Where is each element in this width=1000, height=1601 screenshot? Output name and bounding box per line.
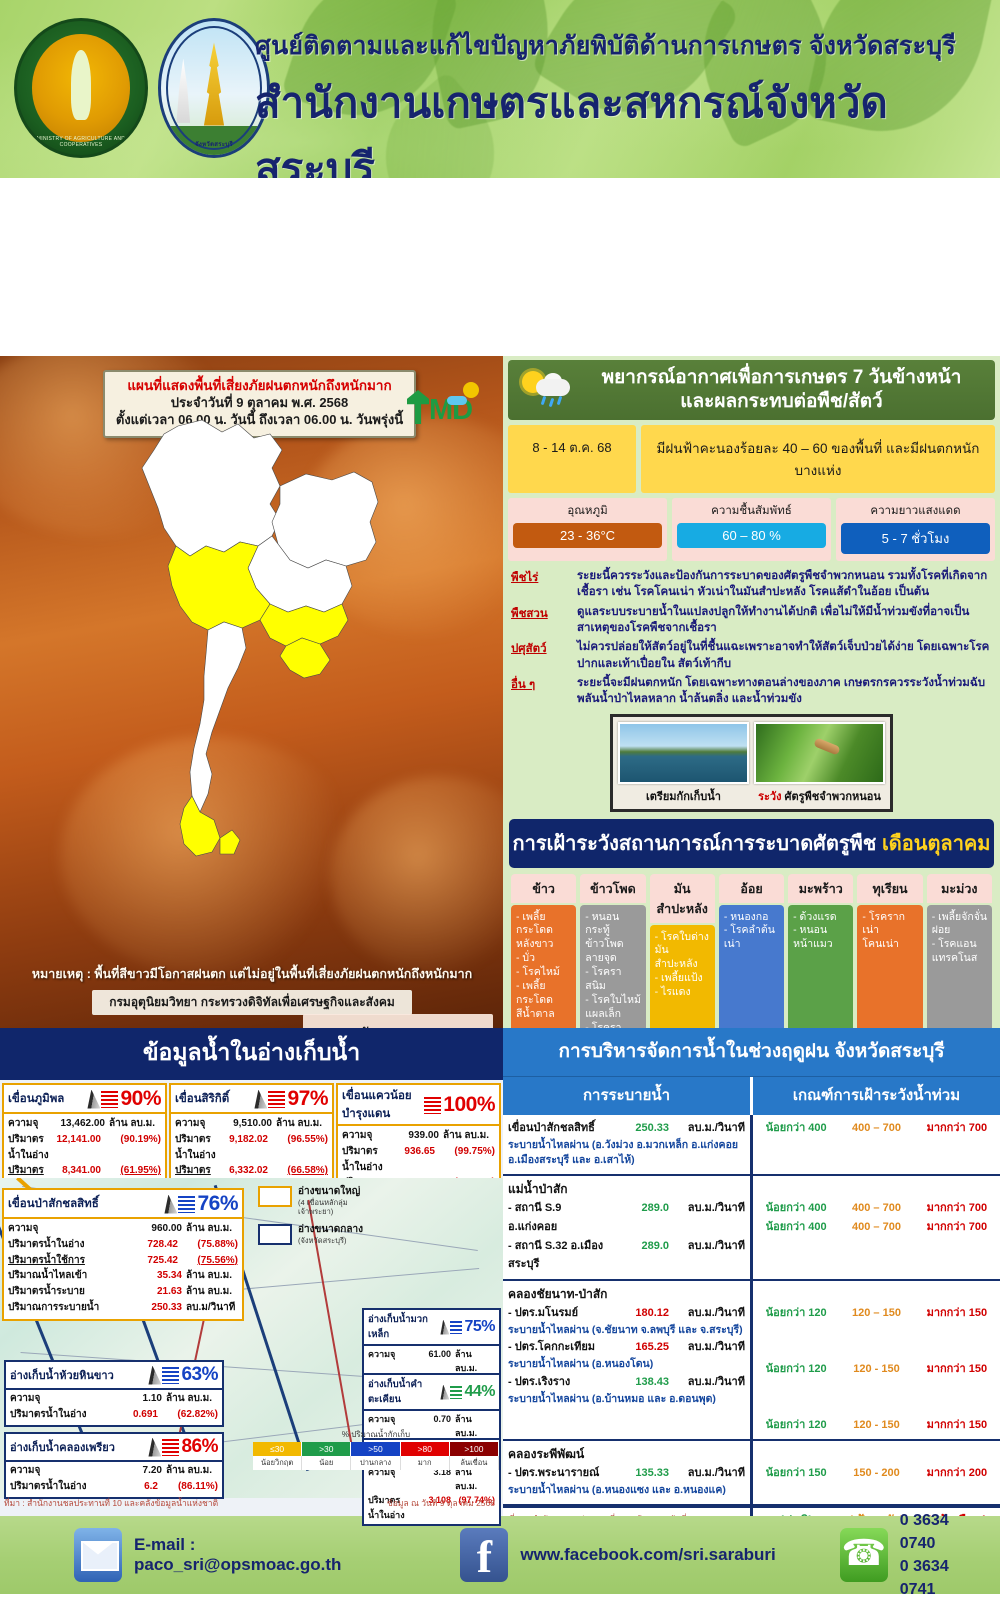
unit: ล้าน ลบ.ม. [451,1347,495,1375]
telephone-2: 0 3634 0741 [900,1555,982,1601]
reservoir-percent: 63% [181,1364,218,1386]
dam-name: เขื่อนป่าสักชลสิทธิ์ [8,1195,99,1213]
map-caption-line2: ประจำวันที่ 9 ตุลาคม พ.ศ. 2568 [113,395,406,412]
flow-through-note: ระบายน้ำไหลผ่าน (จ.ชัยนาท จ.ลพบุรี และ จ… [508,1323,745,1339]
criteria-alert: มากกว่า 700 [917,1199,997,1218]
row-label: ปริมาณน้ำไหลเข้า [8,1268,130,1284]
pest-surveillance-header: การเฝ้าระวังสถานการณ์การระบาดศัตรูพืช เด… [509,819,994,868]
unit: ล้าน ลบ.ม. [439,1128,495,1144]
legend-title: อ่างขนาดใหญ่ [298,1186,382,1198]
caption-rest: ศัตรูพืชจำพวกหนอน [781,791,880,803]
legend-title: อ่างขนาดกลาง [298,1224,363,1236]
dam-percent: 97% [287,1087,328,1111]
legend-subtitle: (จังหวัดสระบุรี) [298,1236,363,1245]
discharge-value: 289.0 [613,1237,669,1256]
crop-name: มะพร้าว [788,874,853,903]
volume-value: 12,141.00 [49,1132,101,1164]
row-label: ปริมาตรน้ำในอ่าง [175,1132,216,1164]
gauge-icon [148,1438,161,1457]
criteria-normal: น้อยกว่า 400 [756,1199,836,1218]
severity-legend: ระดับความรุนแรง ฝนตกหนักมาก (ปริมาณฝนฝน … [303,1014,493,1028]
volume-value: 936.65 [383,1144,435,1176]
capacity-value: 1.10 [110,1391,162,1407]
photo-caption-pest: ระวัง ศัตรูพืชจำพวกหนอน [754,787,885,805]
advice-row-field-crops: พืชไร่ ระยะนี้ควรระวังและป้องกันการระบาด… [511,568,992,601]
weather-summary-row: 8 - 14 ต.ค. 68 มีฝนฟ้าคะนองร้อยละ 40 – 6… [508,425,995,493]
row-label: ปริมาตรน้ำใช้การ [8,1253,126,1269]
discharge-value: 138.43 [613,1373,669,1392]
criteria-normal: น้อยกว่า 120 [756,1304,836,1323]
legend-band: >30 [302,1442,351,1456]
thailand-map [120,416,388,876]
warn-word: ระวัง [758,791,781,803]
unit: ล้าน ลบ.ม. [105,1116,161,1132]
legend-band-label: มาก [401,1456,450,1470]
volume-pct: (96.55%) [268,1132,328,1164]
legend-band: >80 [401,1442,450,1456]
map-source: กรมอุตุนิยมวิทยา กระทรวงดิจิทัลเพื่อเศรษ… [92,990,412,1015]
metric-value: 23 - 36°C [513,523,662,548]
reservoir-name: อ่างเก็บน้ำคำตะเคียน [368,1377,440,1407]
tmd-logo: MD [403,376,481,428]
usable-pct: (75.56%) [178,1253,238,1269]
row-label: ปริมาตรน้ำระบาย [8,1284,130,1300]
capacity-value: 61.00 [411,1347,451,1375]
email-text[interactable]: E-mail : paco_sri@opsmoac.go.th [134,1535,392,1575]
volume-pct: (90.19%) [101,1132,161,1164]
advice-row-livestock: ปศุสัตว์ ไม่ควรปล่อยให้สัตว์อยู่ในที่ชื้… [511,639,992,672]
column-header-discharge: การระบายน้ำ [503,1077,753,1115]
criteria-row: น้อยกว่า 150 150 - 200 มากกว่า 200 [756,1464,997,1483]
criteria-alert: มากกว่า 150 [917,1304,997,1323]
map-caption-line1: แผนที่แสดงพื้นที่เสี่ยงภัยฝนตกหนักถึงหนั… [113,378,406,395]
criteria-alert: มากกว่า 150 [917,1360,997,1379]
volume-value: 6.2 [106,1479,158,1495]
discharge-value: 135.33 [613,1464,669,1483]
reservoir-percent: 86% [181,1436,218,1458]
row-label: ความจุ [8,1116,53,1132]
criteria-watch: 400 – 700 [836,1199,916,1218]
forecast-summary: มีฝนฟ้าคะนองร้อยละ 40 – 60 ของพื้นที่ แล… [641,425,995,493]
legend-band: >50 [351,1442,400,1456]
row-label: ปริมาตรน้ำในอ่าง [10,1407,106,1423]
unit: ลบ.ม./วินาที [669,1119,745,1138]
unit: ลบ.ม./วินาที [669,1373,745,1392]
pest-list: - ด้วงแรด - หนอน หน้าแมว [788,905,853,1033]
center-name: ศูนย์ติดตามและแก้ไขปัญหาภัยพิบัติด้านการ… [255,26,984,66]
crop-name: ข้าวโพด [580,874,645,903]
criteria-row: น้อยกว่า 400 400 – 700 มากกว่า 700 [756,1218,997,1237]
row-label: ปริมาตรน้ำในอ่าง [342,1144,383,1176]
unit: ล้าน ลบ.ม. [182,1221,238,1237]
legend-band: >100 [450,1442,499,1456]
volume-value: 9,182.02 [216,1132,268,1164]
station-name: - สถานี S.32 อ.เมืองสระบุรี [508,1237,613,1274]
unit: ล้าน ลบ.ม. [182,1268,238,1284]
dam-name: เขื่อนแควน้อยบำรุงแดน [342,1087,424,1123]
unit: ลบ.ม./วินาที [669,1464,745,1483]
sun-cloud-rain-icon [520,367,576,413]
office-name: สำนักงานเกษตรและสหกรณ์จังหวัดสระบุรี [255,70,984,178]
rainfall-risk-map-panel: แผนที่แสดงพื้นที่เสี่ยงภัยฝนตกหนักถึงหนั… [0,356,503,1028]
advice-row-other: อื่น ๆ ระยะนี้จะมีฝนตกหนัก โดยเฉพาะทางตอ… [511,675,992,708]
row-label: ความจุ [10,1391,110,1407]
reservoir-name: อ่างเก็บน้ำมวกเหล็ก [368,1312,440,1342]
reservoir-photo [618,722,749,784]
unit: ล้าน ลบ.ม. [162,1391,218,1407]
volume-pct: (75.88%) [178,1237,238,1253]
river-group-title: แม่น้ำป่าสัก [508,1180,745,1199]
water-waves-icon [450,1321,462,1334]
water-waves-icon [450,1386,462,1399]
flow-through-note: ระบายน้ำไหลผ่าน (อ.หนองโดน) [508,1357,745,1373]
discharge-value: 180.12 [613,1304,669,1323]
unit: ล้าน ลบ.ม. [162,1463,218,1479]
station-name: - ปตร.โคกกะเทียม [508,1338,613,1357]
column-header-criteria: เกณฑ์การเฝ้าระวังน้ำท่วม [753,1077,1000,1115]
pest-header-month: เดือนตุลาคม [882,833,991,855]
criteria-alert: มากกว่า 150 [917,1416,997,1435]
criteria-row: น้อยกว่า 400 400 – 700 มากกว่า 700 [756,1199,997,1218]
weather-and-pest-panel: พยากรณ์อากาศเพื่อการเกษตร 7 วันข้างหน้า … [503,356,1000,1028]
station-name: - ปตร.มโนรมย์ [508,1304,613,1323]
contact-footer: E-mail : paco_sri@opsmoac.go.th www.face… [0,1516,1000,1594]
table-row: - สถานี S.9 อ.แก่งคอย 289.0 ลบ.ม./วินาที [508,1199,745,1236]
reservoir-name: อ่างเก็บน้ำห้วยหินขาว [10,1366,114,1384]
row-label: ความจุ [10,1463,110,1479]
water-waves-icon [101,1091,118,1108]
advice-key: อื่น ๆ [511,675,577,708]
metric-value: 5 - 7 ชั่วโมง [841,523,990,554]
inflow-value: 35.34 [130,1268,182,1284]
reservoir-source: ที่มา : สำนักงานชลประทานที่ 10 และคลังข้… [4,1496,218,1510]
legend-large-reservoir: อ่างขนาดใหญ่ (4 เขื่อนหลักลุ่มเจ้าพระยา) [258,1186,382,1216]
gauge-icon [440,1385,449,1400]
row-label: ความจุ [175,1116,220,1132]
capacity-value: 9,510.00 [220,1116,272,1132]
reservoir-data-panel: ข้อมูลน้ำในอ่างเก็บน้ำ เขื่อนภูมิพล 90% … [0,1028,503,1516]
legend-band: ≤30 [253,1442,302,1456]
discharge-value: 250.33 [613,1119,669,1138]
pest-list: - หนองกอ - โรคลำต้นเน่า [719,905,784,1033]
criteria-normal: น้อยกว่า 120 [756,1416,836,1435]
criteria-row: น้อยกว่า 120 120 – 150 มากกว่า 150 [756,1304,997,1323]
discharge-value: 289.0 [613,1199,669,1218]
pest-header-text: การเฝ้าระวังสถานการณ์การระบาดศัตรูพืช [513,833,882,855]
table-row: - สถานี S.32 อ.เมืองสระบุรี 289.0 ลบ.ม./… [508,1237,745,1274]
criteria-watch: 400 – 700 [836,1119,916,1138]
dam-percent: 76% [197,1192,238,1216]
reservoir-card-khlong-phriao: อ่างเก็บน้ำคลองเพรียว 86% ความจุ7.20ล้าน… [4,1432,224,1499]
criteria-watch: 120 - 150 [836,1416,916,1435]
dam-name: เขื่อนสิริกิติ์ [175,1090,229,1108]
criteria-watch: 400 – 700 [836,1218,916,1237]
unit: ลบ.ม./วินาที [669,1199,745,1218]
criteria-row: น้อยกว่า 120 120 - 150 มากกว่า 150 [756,1360,997,1379]
capacity-value: 13,462.00 [53,1116,105,1132]
pest-list: - โรครากเน่า โคนเน่า [857,905,922,1033]
volume-pct: (62.82%) [158,1407,218,1423]
unit: ลบ.ม./วินาที [669,1304,745,1323]
advice-text: ระยะนี้ควรระวังและป้องกันการระบาดของศัตร… [577,568,992,601]
reservoir-size-legend: อ่างขนาดใหญ่ (4 เขื่อนหลักลุ่มเจ้าพระยา)… [258,1186,382,1253]
canal-group-title: คลองชัยนาท-ป่าสัก [508,1285,745,1304]
release-value: 250.33 [130,1300,182,1316]
unit: ล้าน ลบ.ม. [272,1116,328,1132]
dam-percent: 90% [120,1087,161,1111]
crop-name: ทุเรียน [857,874,922,903]
page-header: MINISTRY OF AGRICULTURE AND COOPERATIVES… [0,0,1000,178]
weather-photo-pair: เตรียมกักเก็บน้ำ ระวัง ศัตรูพืชจำพวกหนอน [610,714,893,812]
legend-band-label: ปานกลาง [351,1456,400,1470]
mgmt-group-pasak-dam: เขื่อนป่าสักชลสิทธิ์ 250.33 ลบ.ม./วินาที… [503,1115,1000,1176]
row-label: ปริมาตรน้ำในอ่าง [8,1132,49,1164]
unit: ล้าน ลบ.ม. [182,1284,238,1300]
mgmt-group-pasak-river: แม่น้ำป่าสัก - สถานี S.9 อ.แก่งคอย 289.0… [503,1176,1000,1281]
row-label: ปริมาตรน้ำในอ่าง [8,1237,126,1253]
discharge-value: 165.25 [613,1338,669,1357]
criteria-normal: น้อยกว่า 400 [756,1218,836,1237]
criteria-row: น้อยกว่า 120 120 - 150 มากกว่า 150 [756,1416,997,1435]
advice-key: พืชไร่ [511,568,577,601]
advice-row-orchard: พืชสวน ดูแลระบบระบายน้ำในแปลงปลูกให้ทำงา… [511,604,992,637]
pest-list: - เพลี้ยกระโดด หลังขาว - บั่ว - โรคไหม้ … [511,905,576,1033]
advice-key: ปศุสัตว์ [511,639,577,672]
phone-icon [840,1528,888,1582]
table-row: - ปตร.พระนารายณ์ 135.33 ลบ.ม./วินาที [508,1464,745,1483]
crop-name: ข้าว [511,874,576,903]
criteria-alert: มากกว่า 200 [917,1464,997,1483]
volume-value: 0.691 [106,1407,158,1423]
outflow-value: 21.63 [130,1284,182,1300]
reservoir-panel-title: ข้อมูลน้ำในอ่างเก็บน้ำ [0,1028,503,1080]
gauge-icon [440,1320,449,1335]
usable-value: 725.42 [126,1253,178,1269]
footer-phone-block: 0 3634 0740 0 3634 0741 [840,1509,982,1601]
row-label: ปริมาตรน้ำในอ่าง [10,1479,106,1495]
metric-sunlight: ความยาวแสงแดด 5 - 7 ชั่วโมง [836,498,995,561]
station-name: - ปตร.พระนารายณ์ [508,1464,613,1483]
province-seal-logo: จังหวัดสระบุรี [158,18,270,158]
weather-forecast-header: พยากรณ์อากาศเพื่อการเกษตร 7 วันข้างหน้า … [508,360,995,420]
forecast-date-range: 8 - 14 ต.ค. 68 [508,425,636,493]
gauge-icon [148,1366,161,1385]
table-row: - ปตร.มโนรมย์ 180.12 ลบ.ม./วินาที [508,1304,745,1323]
legend-band-label: น้อย [302,1456,351,1470]
weather-title-line1: พยากรณ์อากาศเพื่อการเกษตร 7 วันข้างหน้า [582,366,981,390]
facebook-url[interactable]: www.facebook.com/sri.saraburi [520,1545,775,1565]
header-title-block: ศูนย์ติดตามและแก้ไขปัญหาภัยพิบัติด้านการ… [255,26,984,178]
dam-card-pasak-chonlasit: เขื่อนป่าสักชลสิทธิ์ 76% ความจุ960.00ล้า… [2,1188,244,1321]
water-management-panel: การบริหารจัดการน้ำในช่วงฤดูฝน จังหวัดสระ… [503,1028,1000,1516]
agricultural-advice-list: พืชไร่ ระยะนี้ควรระวังและป้องกันการระบาด… [511,568,992,708]
flow-through-note: ระบายน้ำไหลผ่าน (อ.หนองแซง และ อ.หนองแค) [508,1483,745,1499]
mail-icon [74,1528,122,1582]
dam-name: เขื่อนภูมิพล [8,1090,64,1108]
pest-list: - เพลี้ยจักจั่น ฝอย - โรคแอน แทรคโนส [927,905,992,1033]
unit: ลบ.ม./วินาที [669,1338,745,1357]
volume-pct: (86.11%) [158,1479,218,1495]
mgmt-group-chainat-pasak-canal: คลองชัยนาท-ป่าสัก - ปตร.มโนรมย์ 180.12 ล… [503,1281,1000,1442]
legend-medium-reservoir: อ่างขนาดกลาง (จังหวัดสระบุรี) [258,1224,382,1245]
water-waves-icon [424,1097,441,1114]
criteria-watch: 120 – 150 [836,1304,916,1323]
criteria-normal: น้อยกว่า 400 [756,1119,836,1138]
row-label: ความจุ [342,1128,387,1144]
reservoir-percent: 75% [464,1318,495,1336]
gauge-icon [87,1090,100,1109]
caterpillar-photo [754,722,885,784]
water-management-column-headers: การระบายน้ำ เกณฑ์การเฝ้าระวังน้ำท่วม [503,1076,1000,1115]
criteria-watch: 150 - 200 [836,1464,916,1483]
criteria-alert: มากกว่า 700 [917,1218,997,1237]
dam-percent: 100% [443,1093,495,1117]
unit: ลบ.ม./วินาที [669,1237,745,1256]
legend-title: % ปริมาณน้ำกักเก็บ [253,1428,499,1441]
crop-name: มะม่วง [927,874,992,903]
metric-value: 60 – 80 % [677,523,826,548]
advice-text: ไม่ควรปล่อยให้สัตว์อยู่ในที่ชื้นแฉะเพราะ… [577,639,992,672]
storage-percent-legend: % ปริมาณน้ำกักเก็บ ≤30 >30 >50 >80 >100 … [253,1428,499,1470]
criteria-normal: น้อยกว่า 120 [756,1360,836,1379]
facebook-icon[interactable] [460,1528,508,1582]
station-name: - สถานี S.9 อ.แก่งคอย [508,1199,613,1236]
metric-temperature: อุณหภูมิ 23 - 36°C [508,498,667,561]
footer-email-block: E-mail : paco_sri@opsmoac.go.th [74,1528,392,1582]
reservoir-data-date: ข้อมูล ณ วันที่ 9 ตุลาคม 2568 [387,1496,495,1510]
water-waves-icon [178,1196,195,1213]
advice-key: พืชสวน [511,604,577,637]
gauge-icon [254,1090,267,1109]
metric-label: ความชื้นสัมพัทธ์ [677,502,826,520]
criteria-alert: มากกว่า 700 [917,1119,997,1138]
volume-value: 728.42 [126,1237,178,1253]
footer-facebook-block: www.facebook.com/sri.saraburi [460,1528,775,1582]
advice-text: ระยะนี้จะมีฝนตกหนัก โดยเฉพาะทางตอนล่างขอ… [577,675,992,708]
reservoir-percent: 44% [464,1383,495,1401]
mgmt-group-rapeephat-canal: คลองระพีพัฒน์ - ปตร.พระนารายณ์ 135.33 ลบ… [503,1441,1000,1505]
crop-name: มันสำปะหลัง [650,874,715,923]
canal-group-title: คลองระพีพัฒน์ [508,1445,745,1464]
crop-name: อ้อย [719,874,784,903]
gauge-icon [164,1195,177,1214]
criteria-watch: 120 - 150 [836,1360,916,1379]
telephone-1: 0 3634 0740 [900,1509,982,1555]
province-seal-label: จังหวัดสระบุรี [161,139,267,149]
capacity-value: 960.00 [130,1221,182,1237]
flow-through-note: ระบายน้ำไหลผ่าน (อ.บ้านหมอ และ อ.ดอนพุด) [508,1392,745,1408]
water-waves-icon [162,1367,179,1384]
flow-through-note: ระบายน้ำไหลผ่าน (อ.วังม่วง อ.มวกเหล็ก อ.… [508,1138,745,1170]
reservoir-name: อ่างเก็บน้ำคลองเพรียว [10,1438,115,1456]
volume-pct: (99.75%) [435,1144,495,1176]
weather-metrics-row: อุณหภูมิ 23 - 36°C ความชื้นสัมพัทธ์ 60 –… [508,498,995,561]
seal-label: MINISTRY OF AGRICULTURE AND COOPERATIVES [17,136,145,148]
row-label: ปริมาณการระบายน้ำ [8,1300,130,1316]
weather-title-line2: และผลกระทบต่อพืช/สัตว์ [582,390,981,414]
capacity-value: 939.00 [387,1128,439,1144]
legend-subtitle: (4 เขื่อนหลักลุ่มเจ้าพระยา) [298,1198,382,1216]
metric-label: อุณหภูมิ [513,502,662,520]
advice-text: ดูแลระบบระบายน้ำในแปลงปลูกให้ทำงานได้ปกต… [577,604,992,637]
row-label: ความจุ [368,1347,411,1375]
water-waves-icon [162,1439,179,1456]
water-management-title: การบริหารจัดการน้ำในช่วงฤดูฝน จังหวัดสระ… [503,1028,1000,1076]
metric-humidity: ความชื้นสัมพัทธ์ 60 – 80 % [672,498,831,561]
station-name: - ปตร.เริงราง [508,1373,613,1392]
photo-caption-water: เตรียมกักเก็บน้ำ [618,787,749,805]
water-waves-icon [268,1091,285,1108]
criteria-normal: น้อยกว่า 150 [756,1464,836,1483]
legend-band-label: ล้นเขื่อน [450,1456,499,1470]
table-row: เขื่อนป่าสักชลสิทธิ์ 250.33 ลบ.ม./วินาที [508,1119,745,1138]
metric-label: ความยาวแสงแดด [841,502,990,520]
table-row: - ปตร.เริงราง 138.43 ลบ.ม./วินาที [508,1373,745,1392]
criteria-row: น้อยกว่า 400 400 – 700 มากกว่า 700 [756,1119,997,1138]
reservoir-card-huai-hin-khao: อ่างเก็บน้ำห้วยหินขาว 63% ความจุ1.10ล้าน… [4,1360,224,1427]
table-row: - ปตร.โคกกะเทียม 165.25 ลบ.ม./วินาที [508,1338,745,1357]
row-label: ความจุ [8,1221,130,1237]
map-note: หมายเหตุ : พื้นที่สีขาวมีโอกาสฝนตก แต่ไม… [22,964,482,984]
ministry-seal-logo: MINISTRY OF AGRICULTURE AND COOPERATIVES [14,18,148,158]
station-name: เขื่อนป่าสักชลสิทธิ์ [508,1119,613,1138]
legend-band-label: น้อยวิกฤต [253,1456,302,1470]
unit: ลบ.ม/วินาที [182,1300,238,1316]
capacity-value: 7.20 [110,1463,162,1479]
